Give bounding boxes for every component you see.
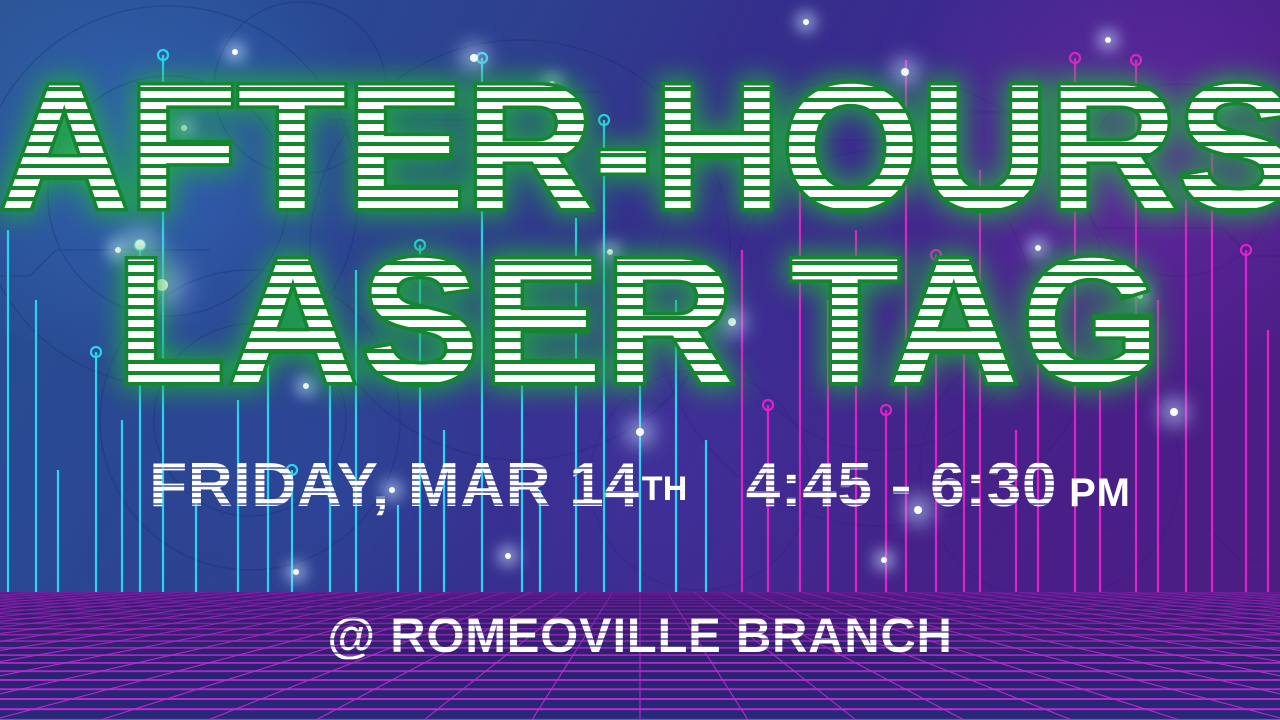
event-date-ordinal: TH xyxy=(642,470,688,508)
event-time: 4:45 - 6:30PM xyxy=(746,455,1131,517)
headline-2-text: LASER TAG xyxy=(116,221,1163,420)
event-time-period: PM xyxy=(1069,471,1131,515)
venue-text: @ ROMEOVILLE BRANCH xyxy=(327,612,952,661)
headline-1-text: AFTER-HOURS xyxy=(0,47,1280,246)
headline-line-1: AFTER-HOURS AFTER-HOURS AFTER-HOURS xyxy=(0,58,1280,236)
headline-line-2: LASER TAG LASER TAG LASER TAG xyxy=(0,232,1280,410)
event-date: FRIDAY, MAR 14TH xyxy=(149,455,687,517)
event-details-row: FRIDAY, MAR 14TH 4:45 - 6:30PM xyxy=(0,455,1280,517)
event-date-text: FRIDAY, MAR 14 xyxy=(149,451,639,520)
venue-banner: @ ROMEOVILLE BRANCH xyxy=(0,612,1280,661)
event-time-text: 4:45 - 6:30 xyxy=(746,451,1057,520)
event-poster: AFTER-HOURS AFTER-HOURS AFTER-HOURS LASE… xyxy=(0,0,1280,720)
